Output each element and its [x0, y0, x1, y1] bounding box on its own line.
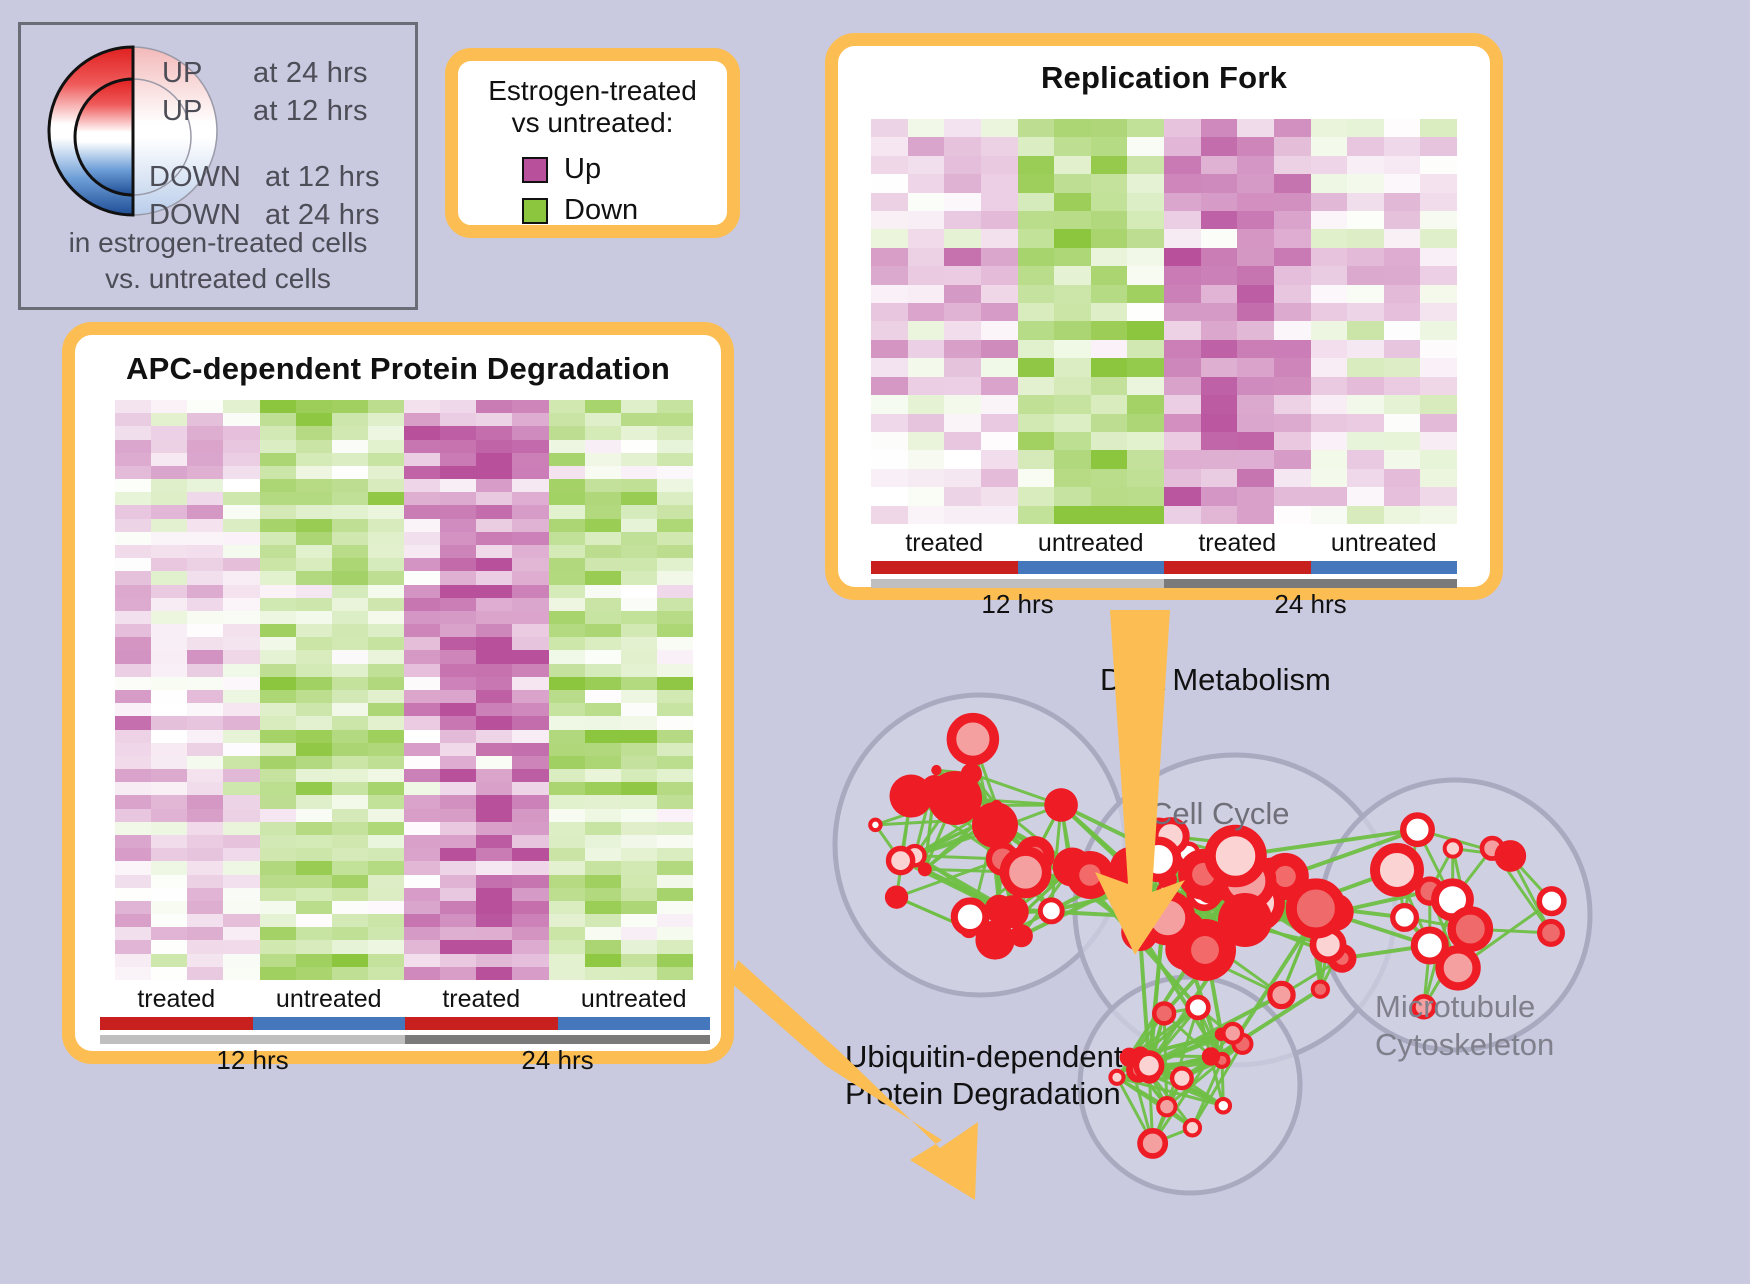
arrow-apc-degradation — [730, 960, 978, 1200]
arrow-replication-fork — [1095, 610, 1185, 955]
callout-arrows — [0, 0, 1750, 1279]
figure-canvas: UP at 24 hrs UP at 12 hrs DOWN at 12 hrs… — [0, 0, 1750, 1279]
